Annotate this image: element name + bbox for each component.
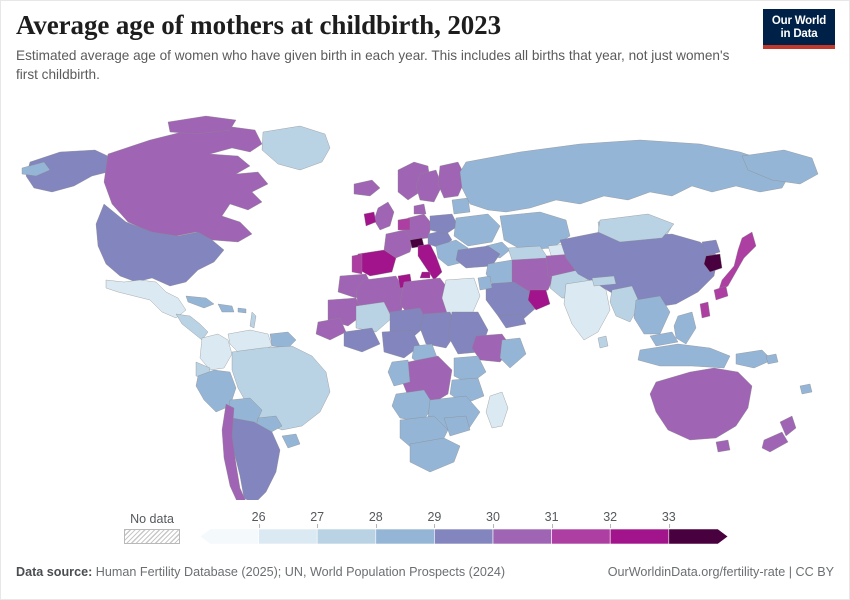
map-legend: No data 26 27 28 29 30 31 32 33: [0, 508, 850, 556]
license-link[interactable]: OurWorldinData.org/fertility-rate | CC B…: [608, 565, 834, 579]
data-source-label: Data source:: [16, 565, 92, 579]
country-lesser-antilles[interactable]: [250, 312, 256, 328]
no-data-label: No data: [124, 512, 180, 526]
chart-subtitle: Estimated average age of women who have …: [16, 47, 732, 85]
country-fiji[interactable]: [800, 384, 812, 394]
legend-bin-6[interactable]: [552, 529, 611, 544]
chart-header: Average age of mothers at childbirth, 20…: [16, 10, 834, 85]
country-somalia[interactable]: [500, 338, 526, 368]
country-baltics[interactable]: [452, 198, 470, 214]
country-hispaniola[interactable]: [218, 304, 234, 312]
legend-bar-svg: [200, 529, 728, 544]
data-source-text: Human Fertility Database (2025); UN, Wor…: [92, 565, 505, 579]
country-puerto-rico[interactable]: [238, 308, 246, 313]
country-tasmania[interactable]: [716, 440, 730, 452]
country-australia[interactable]: [650, 368, 752, 440]
legend-bin-7[interactable]: [610, 529, 669, 544]
country-israel-jordan[interactable]: [478, 276, 492, 290]
country-mexico[interactable]: [106, 280, 186, 318]
logo-line-2: in Data: [767, 28, 831, 41]
country-benelux[interactable]: [398, 218, 410, 230]
legend-color-scale[interactable]: 26 27 28 29 30 31 32 33: [200, 508, 728, 552]
legend-bin-0[interactable]: [200, 529, 259, 544]
country-japan[interactable]: [718, 232, 756, 292]
country-sri-lanka[interactable]: [598, 336, 608, 348]
country-south-africa[interactable]: [410, 438, 460, 472]
country-senegal-guinea[interactable]: [316, 318, 346, 340]
our-world-in-data-logo[interactable]: Our World in Data: [763, 9, 835, 49]
country-ireland[interactable]: [364, 212, 376, 226]
map-svg: [0, 100, 850, 500]
legend-bin-3[interactable]: [376, 529, 435, 544]
legend-no-data[interactable]: No data: [124, 512, 180, 544]
country-united-kingdom[interactable]: [374, 202, 394, 230]
country-taiwan[interactable]: [700, 302, 710, 318]
country-pacific-islands[interactable]: [766, 354, 778, 364]
logo-line-1: Our World: [767, 15, 831, 28]
country-denmark[interactable]: [414, 204, 426, 214]
legend-bin-4[interactable]: [434, 529, 493, 544]
country-indonesia[interactable]: [638, 344, 730, 368]
country-philippines[interactable]: [674, 312, 696, 344]
country-cuba[interactable]: [186, 296, 214, 308]
country-uruguay[interactable]: [282, 434, 300, 448]
country-madagascar[interactable]: [486, 392, 508, 428]
legend-tick-32: 32: [603, 510, 617, 524]
country-portugal[interactable]: [352, 254, 362, 274]
legend-bin-2[interactable]: [317, 529, 376, 544]
country-iceland[interactable]: [354, 180, 380, 196]
no-data-swatch[interactable]: [124, 529, 180, 544]
page-title: Average age of mothers at childbirth, 20…: [16, 10, 834, 40]
country-guyanas[interactable]: [270, 332, 296, 348]
legend-tick-27: 27: [310, 510, 324, 524]
country-nepal-bhutan[interactable]: [592, 276, 616, 286]
country-poland[interactable]: [430, 214, 458, 234]
country-russia[interactable]: [460, 140, 790, 212]
legend-bin-5[interactable]: [493, 529, 552, 544]
legend-bin-8[interactable]: [669, 529, 728, 544]
country-egypt[interactable]: [442, 278, 480, 316]
legend-tick-33: 33: [662, 510, 676, 524]
country-sicily-sardinia[interactable]: [420, 272, 430, 278]
country-yemen[interactable]: [498, 314, 526, 328]
legend-tick-29: 29: [427, 510, 441, 524]
country-colombia[interactable]: [200, 334, 232, 370]
chart-footer: Data source: Human Fertility Database (2…: [0, 565, 850, 589]
legend-tick-26: 26: [252, 510, 266, 524]
legend-gradient-bar[interactable]: [200, 529, 728, 544]
country-india[interactable]: [564, 280, 610, 340]
legend-tick-28: 28: [369, 510, 383, 524]
country-sweden[interactable]: [416, 170, 442, 202]
world-choropleth-map[interactable]: [0, 100, 850, 500]
data-source: Data source: Human Fertility Database (2…: [16, 565, 505, 579]
legend-tick-30: 30: [486, 510, 500, 524]
country-central-america[interactable]: [176, 314, 208, 340]
legend-tick-31: 31: [545, 510, 559, 524]
country-greenland[interactable]: [262, 126, 330, 170]
country-romania-ukraine[interactable]: [454, 214, 500, 246]
country-gabon-congo[interactable]: [388, 360, 410, 386]
country-kazakhstan[interactable]: [500, 212, 570, 250]
country-zimbabwe[interactable]: [444, 416, 470, 436]
country-new-zealand-south[interactable]: [762, 432, 788, 452]
legend-bin-1[interactable]: [259, 529, 318, 544]
country-japan-kyushu[interactable]: [714, 286, 728, 300]
